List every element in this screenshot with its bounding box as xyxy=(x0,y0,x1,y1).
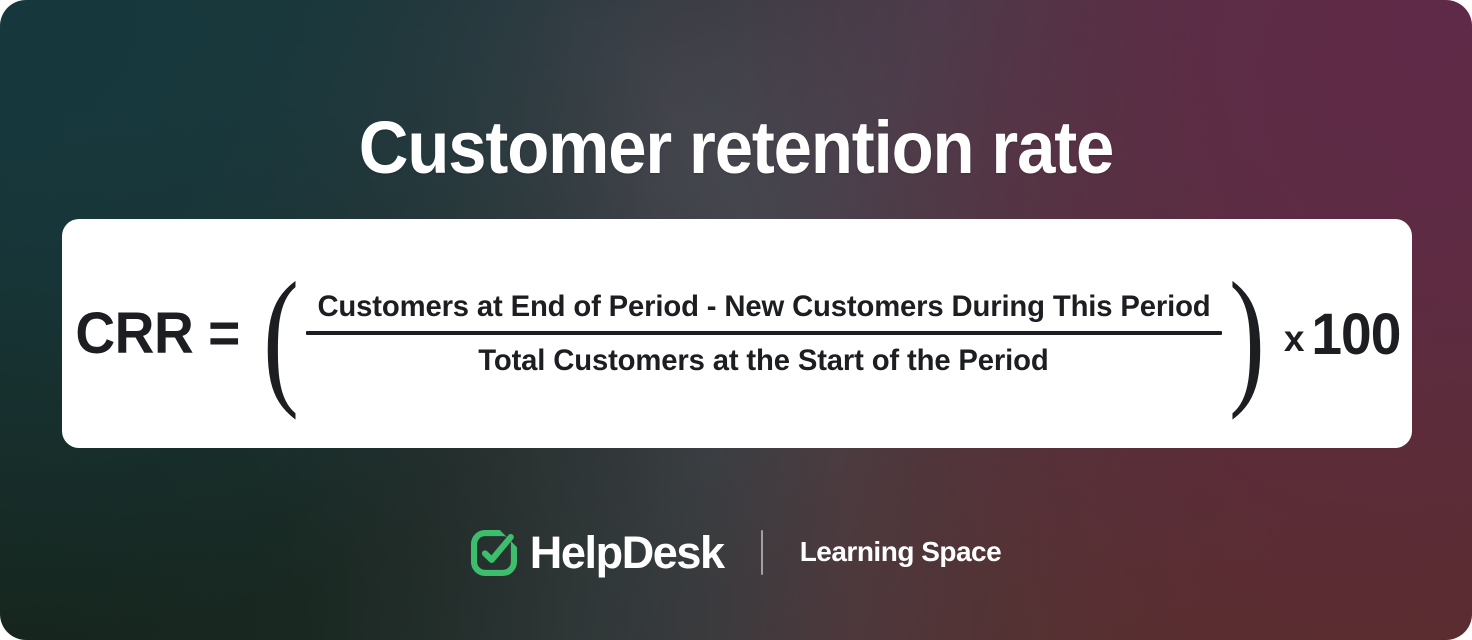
formula-abbreviation: CRR = xyxy=(75,305,239,363)
sub-brand-name: Learning Space xyxy=(800,538,1002,566)
brand-divider xyxy=(761,530,763,575)
fraction-denominator: Total Customers at the Start of the Peri… xyxy=(479,335,1049,381)
poster-canvas: Customer retention rate CRR = ( Customer… xyxy=(0,0,1472,640)
brand-lockup: HelpDesk Learning Space xyxy=(471,529,1001,575)
multiplier-value: 100 xyxy=(1312,306,1401,364)
close-parenthesis: ) xyxy=(1229,280,1265,390)
formula-card: CRR = ( Customers at End of Period - New… xyxy=(62,219,1412,448)
page-title: Customer retention rate xyxy=(52,102,1421,194)
brand-name: HelpDesk xyxy=(530,530,724,575)
brand-footer: HelpDesk Learning Space xyxy=(0,520,1472,584)
formula-fraction: Customers at End of Period - New Custome… xyxy=(306,287,1222,381)
fraction-numerator: Customers at End of Period - New Custome… xyxy=(317,287,1210,331)
multiplication-symbol: x xyxy=(1284,320,1305,357)
open-parenthesis: ( xyxy=(263,280,299,390)
helpdesk-check-square-icon xyxy=(471,530,517,576)
formula-expression: CRR = ( Customers at End of Period - New… xyxy=(62,219,1412,448)
